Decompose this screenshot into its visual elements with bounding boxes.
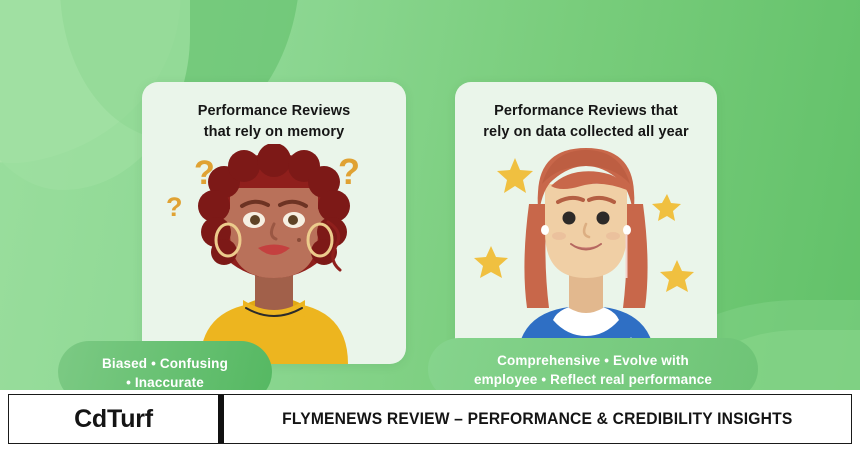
bottom-bar-title-text: FLYMENEWS REVIEW – PERFORMANCE & CREDIBI… — [282, 409, 792, 429]
brand-logo-text: CdTurf — [74, 405, 153, 434]
svg-text:?: ? — [166, 192, 183, 222]
card-data-title: Performance Reviews that rely on data co… — [455, 82, 717, 142]
card-data: Performance Reviews that rely on data co… — [455, 82, 717, 364]
bottom-bar-frame: CdTurf FLYMENEWS REVIEW – PERFORMANCE & … — [8, 394, 852, 444]
background-gradient — [0, 0, 860, 390]
bottom-bar-title: FLYMENEWS REVIEW – PERFORMANCE & CREDIBI… — [224, 395, 851, 443]
card-memory-title: Performance Reviews that rely on memory — [142, 82, 406, 142]
brand-logo[interactable]: CdTurf — [9, 395, 224, 443]
card-memory: Performance Reviews that rely on memory … — [142, 82, 406, 364]
svg-text:?: ? — [338, 151, 360, 192]
confused-woman-illustration: ? ? ? — [142, 144, 406, 364]
bottom-bar: CdTurf FLYMENEWS REVIEW – PERFORMANCE & … — [0, 390, 860, 450]
infographic-screen: Performance Reviews that rely on memory … — [0, 0, 860, 450]
confident-woman-illustration — [455, 144, 717, 364]
